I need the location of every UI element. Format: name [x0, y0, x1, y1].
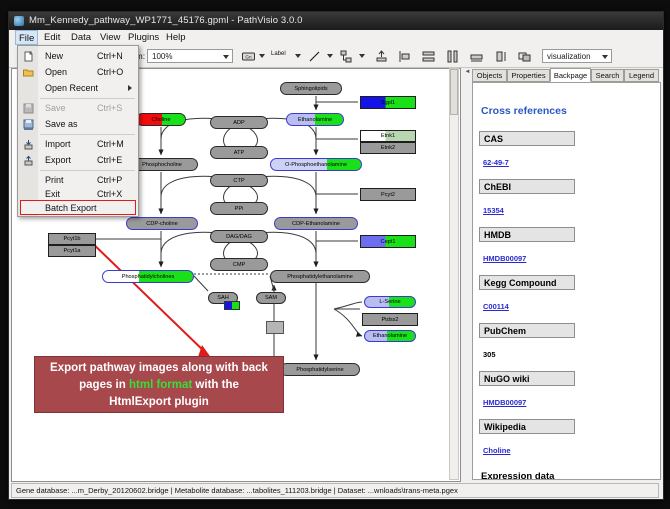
menu-item-label: Exit — [45, 189, 60, 199]
menu-data[interactable]: Data — [67, 31, 95, 44]
line-dropdown-icon[interactable] — [327, 54, 333, 58]
bring-front-icon[interactable] — [517, 49, 532, 64]
node-dag[interactable]: DAG/DAG — [210, 230, 268, 243]
align-top-icon[interactable] — [374, 49, 389, 64]
menu-separator — [40, 134, 135, 135]
xref-source-nugo: NuGO wiki — [479, 371, 575, 386]
node-phosphatidylserine[interactable]: Phosphatidylserine — [280, 363, 360, 376]
menu-item-label: New — [45, 51, 63, 61]
menu-plugins[interactable]: Plugins — [124, 31, 163, 44]
gene-sgpl1[interactable]: Sgpl1 — [360, 96, 416, 109]
menu-item-new[interactable]: New Ctrl+N — [19, 49, 137, 64]
node-ppi[interactable]: PPi — [210, 202, 268, 215]
save-as-icon — [23, 119, 34, 130]
backpage-content: Cross references CAS 62-49-7 ChEBI 15354… — [472, 82, 661, 480]
zoom-combo[interactable]: 100% — [147, 49, 233, 63]
menu-item-label: Batch Export — [45, 203, 97, 213]
xref-value-kegg[interactable]: C00114 — [483, 302, 509, 311]
gene-pcyt1b[interactable]: Pcyt1b — [48, 233, 96, 245]
menu-item-accel: Ctrl+O — [97, 67, 123, 77]
canvas-vertical-scrollbar[interactable] — [449, 68, 459, 480]
side-panel: ◄ Objects Properties Backpage Search Leg… — [464, 68, 661, 480]
menu-item-accel: Ctrl+S — [97, 103, 122, 113]
menu-item-accel: Ctrl+X — [97, 189, 122, 199]
chevron-down-icon — [223, 55, 229, 59]
line-tool-icon[interactable] — [307, 49, 322, 64]
menu-item-open[interactable]: Open Ctrl+O — [19, 65, 137, 80]
node-atp[interactable]: ATP — [210, 146, 268, 159]
xref-value-chebi[interactable]: 15354 — [483, 206, 504, 215]
file-menu-dropdown[interactable]: New Ctrl+N Open Ctrl+O Open Recent Save — [17, 45, 139, 217]
tab-backpage[interactable]: Backpage — [550, 68, 591, 82]
callout-line2: pages in html format with the — [35, 377, 283, 394]
xref-value-pubchem: 305 — [483, 350, 496, 359]
node-cmp[interactable]: CMP — [210, 258, 268, 271]
same-height-icon[interactable] — [493, 49, 508, 64]
export-icon — [23, 155, 34, 166]
menu-item-accel: Ctrl+N — [97, 51, 123, 61]
node-l-serine[interactable]: L-Serine — [364, 296, 416, 308]
xref-source-chebi: ChEBI — [479, 179, 575, 194]
cross-references-title: Cross references — [481, 105, 655, 117]
menu-item-label: Open Recent — [45, 83, 98, 93]
same-width-icon[interactable] — [469, 49, 484, 64]
gene-pcyt2[interactable]: Pcyt2 — [360, 188, 416, 201]
menu-item-label: Save — [45, 103, 66, 113]
visualization-value: visualization — [547, 52, 591, 61]
side-panel-tabs: Objects Properties Backpage Search Legen… — [472, 68, 661, 82]
xref-source-wikipedia: Wikipedia — [479, 419, 575, 434]
open-folder-icon — [23, 67, 34, 78]
scroll-thumb[interactable] — [450, 69, 458, 115]
xref-source-cas: CAS — [479, 131, 575, 146]
xref-value-nugo[interactable]: HMDB00097 — [483, 398, 526, 407]
node-ctp[interactable]: CTP — [210, 174, 268, 187]
window-title: Mm_Kennedy_pathway_WP1771_45176.gpml - P… — [29, 15, 303, 26]
application-window: Mm_Kennedy_pathway_WP1771_45176.gpml - P… — [8, 11, 664, 500]
menu-help[interactable]: Help — [162, 31, 190, 44]
node-sphingolipids[interactable]: Sphingolipids — [280, 82, 342, 95]
menu-item-accel: Ctrl+E — [97, 155, 122, 165]
node-cdp-ethanolamine[interactable]: CDP-Ethanolamine — [274, 217, 358, 230]
node-phosphatidylethanolamine[interactable]: Phosphatidylethanolamine — [270, 270, 370, 283]
label-tool-label[interactable]: Label — [271, 51, 286, 57]
menu-bar: File Edit Data View Plugins Help — [9, 30, 663, 46]
submenu-arrow-icon — [128, 85, 132, 91]
menu-edit[interactable]: Edit — [40, 31, 64, 44]
callout-line3: HtmlExport plugin — [35, 394, 283, 411]
datanode-dropdown-icon[interactable] — [259, 54, 265, 58]
menu-item-label: Import — [45, 139, 71, 149]
menu-item-print[interactable]: Print Ctrl+P — [19, 173, 137, 188]
callout-line1: Export pathway images along with back — [35, 360, 283, 377]
visualization-combo[interactable]: visualization — [542, 49, 612, 63]
menu-item-save: Save Ctrl+S — [19, 101, 137, 116]
panel-collapse-icon[interactable]: ◄ — [464, 69, 471, 79]
menu-item-label: Print — [45, 175, 64, 185]
gene-etnk1[interactable]: Etnk1 — [360, 130, 416, 142]
menu-item-batch-export-highlight[interactable]: Batch Export — [20, 200, 136, 215]
svg-text:Gn: Gn — [245, 54, 252, 59]
xref-source-pubchem: PubChem — [479, 323, 575, 338]
tab-properties[interactable]: Properties — [507, 69, 550, 82]
xref-value-cas[interactable]: 62-49-7 — [483, 158, 509, 167]
menu-item-accel: Ctrl+M — [97, 139, 124, 149]
new-file-icon — [23, 51, 34, 62]
xref-value-hmdb[interactable]: HMDB00097 — [483, 254, 526, 263]
annotation-callout: Export pathway images along with back pa… — [34, 356, 284, 413]
zoom-value: 100% — [152, 52, 172, 61]
menu-separator — [40, 98, 135, 99]
node-phosphatidylcholines[interactable]: Phosphatidylcholines — [102, 270, 194, 283]
tab-search[interactable]: Search — [591, 69, 624, 82]
save-disk-icon — [23, 103, 34, 114]
xref-value-wikipedia[interactable]: Choline — [483, 446, 511, 455]
label-dropdown-icon[interactable] — [295, 54, 301, 58]
node-ethanolamine-top[interactable]: Ethanolamine — [286, 113, 344, 126]
gene-pcyt1a[interactable]: Pcyt1a — [48, 245, 96, 257]
distribute-vertical-icon[interactable] — [421, 49, 436, 64]
distribute-horizontal-icon[interactable] — [445, 49, 460, 64]
xref-source-hmdb: HMDB — [479, 227, 575, 242]
status-bar: Gene database: ...m_Derby_20120602.bridg… — [11, 483, 659, 498]
anchor-block — [266, 321, 284, 334]
expression-data-label: Expression data — [481, 471, 655, 480]
title-bar: Mm_Kennedy_pathway_WP1771_45176.gpml - P… — [9, 12, 663, 31]
chevron-down-icon — [602, 55, 608, 59]
callout-line2-post: with the — [192, 379, 239, 391]
menu-item-import[interactable]: Import Ctrl+M — [19, 137, 137, 152]
node-sam[interactable]: SAM — [256, 292, 286, 304]
menu-item-accel: Ctrl+P — [97, 175, 122, 185]
xref-source-kegg: Kegg Compound — [479, 275, 575, 290]
gene-cept1[interactable]: Cept1 — [360, 235, 416, 248]
callout-line2-green: html format — [129, 379, 192, 391]
node-adp[interactable]: ADP — [210, 116, 268, 129]
node-cdp-choline[interactable]: CDP-choline — [126, 217, 198, 230]
menu-file[interactable]: File — [15, 30, 38, 45]
menu-item-label: Save as — [45, 119, 78, 129]
menu-item-save-as[interactable]: Save as — [19, 117, 137, 132]
callout-line2-pre: pages in — [79, 379, 129, 391]
menu-item-label: Open — [45, 67, 67, 77]
tab-legend[interactable]: Legend — [624, 69, 659, 82]
align-left-icon[interactable] — [397, 49, 412, 64]
app-icon — [14, 16, 24, 26]
interaction-dropdown-icon[interactable] — [359, 54, 365, 58]
datanode-icon[interactable]: Gn — [241, 49, 256, 64]
menu-item-label: Export — [45, 155, 71, 165]
gene-ptdss2[interactable]: Ptdss2 — [362, 313, 418, 326]
tab-objects[interactable]: Objects — [472, 69, 507, 82]
node-o-phosphoethanolamine[interactable]: O-Phosphoethanolamine — [270, 158, 362, 171]
menu-separator — [40, 170, 135, 171]
menu-view[interactable]: View — [96, 31, 124, 44]
menu-item-export[interactable]: Export Ctrl+E — [19, 153, 137, 168]
menu-item-open-recent[interactable]: Open Recent — [19, 81, 137, 96]
gene-etnk2[interactable]: Etnk2 — [360, 142, 416, 154]
node-choline-top[interactable]: Choline — [136, 113, 186, 126]
interaction-tool-icon[interactable] — [339, 49, 354, 64]
screen: Mm_Kennedy_pathway_WP1771_45176.gpml - P… — [0, 0, 670, 509]
node-ethanolamine-right[interactable]: Ethanolamine — [364, 330, 416, 342]
legend-swatch — [224, 301, 240, 310]
import-icon — [23, 139, 34, 150]
